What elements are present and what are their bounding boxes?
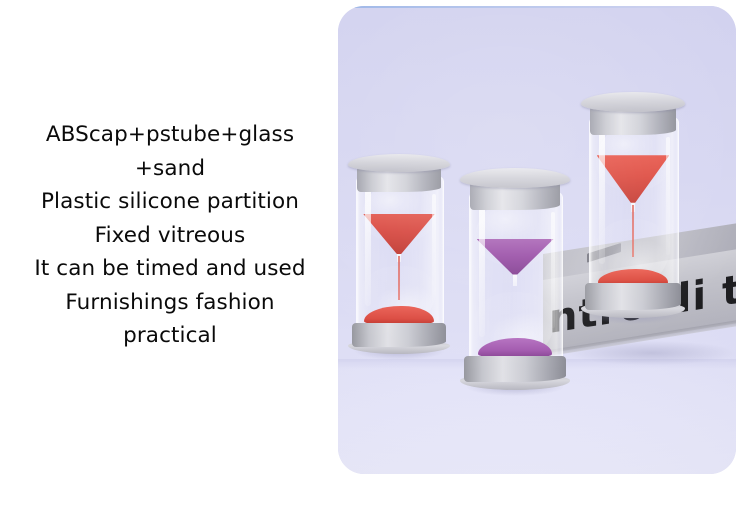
upper-sand bbox=[597, 155, 670, 202]
spec-line-4: Fixed vitreous bbox=[0, 219, 340, 253]
glass-highlight-right bbox=[666, 137, 670, 255]
spec-line-1: ABScap+pstube+glass bbox=[0, 118, 340, 152]
product-spec-text: ABScap+pstube+glass +sand Plastic silico… bbox=[0, 118, 340, 353]
metal-base-body bbox=[352, 323, 446, 347]
metal-base-body bbox=[464, 356, 565, 383]
product-photo: ntro di te bbox=[338, 6, 736, 474]
spec-line-7: practical bbox=[0, 319, 340, 353]
metal-cap-top bbox=[581, 92, 685, 112]
spec-line-6: Furnishings fashion bbox=[0, 286, 340, 320]
sand-stream bbox=[398, 256, 399, 300]
hourglass-red-right bbox=[581, 92, 685, 318]
glass-highlight-left bbox=[479, 204, 485, 337]
upper-sand bbox=[477, 239, 554, 275]
glass-highlight-right bbox=[432, 194, 436, 298]
sand-stream bbox=[632, 205, 633, 257]
hourglass-purple-center bbox=[460, 168, 570, 390]
metal-base-body bbox=[585, 283, 681, 310]
glass-highlight-right bbox=[551, 212, 555, 327]
glass-highlight-left bbox=[365, 186, 371, 306]
spec-line-5: It can be timed and used bbox=[0, 252, 340, 286]
upper-sand bbox=[363, 214, 434, 254]
spec-line-2: +sand bbox=[0, 152, 340, 186]
spec-line-3: Plastic silicone partition bbox=[0, 185, 340, 219]
metal-cap-top bbox=[460, 168, 570, 188]
photo-top-edge-line bbox=[338, 6, 736, 8]
hourglass-red-left bbox=[348, 154, 450, 354]
glass-highlight-left bbox=[599, 128, 605, 264]
product-detail-page: ABScap+pstube+glass +sand Plastic silico… bbox=[0, 0, 750, 511]
metal-cap-top bbox=[348, 154, 450, 172]
